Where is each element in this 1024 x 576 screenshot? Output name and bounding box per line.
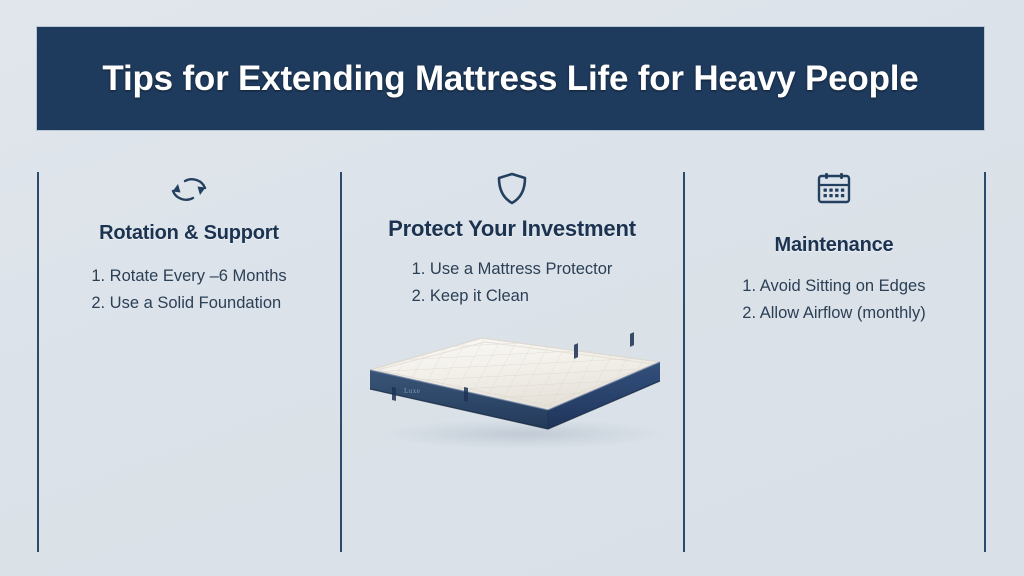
section-protect-investment: Protect Your Investment 1. Use a Mattres… <box>341 168 683 309</box>
column-divider-right <box>984 172 986 552</box>
section-rotation-support: Rotation & Support 1. Rotate Every –6 Mo… <box>38 168 340 316</box>
section-title-maintenance: Maintenance <box>684 234 984 257</box>
tips-list-protect: 1. Use a Mattress Protector 2. Keep it C… <box>412 256 613 309</box>
tips-list-rotation: 1. Rotate Every –6 Months 2. Use a Solid… <box>91 263 286 316</box>
page-title: Tips for Extending Mattress Life for Hea… <box>72 57 948 100</box>
list-item: 1. Avoid Sitting on Edges <box>742 273 925 300</box>
mattress-logo: Luxe <box>404 387 420 395</box>
list-item: 2. Use a Solid Foundation <box>91 290 286 317</box>
header-banner: Tips for Extending Mattress Life for Hea… <box>36 26 985 131</box>
section-title-rotation: Rotation & Support <box>38 222 340 245</box>
shield-icon <box>341 168 683 210</box>
list-item: 1. Use a Mattress Protector <box>412 256 613 283</box>
section-maintenance: Maintenance 1. Avoid Sitting on Edges 2.… <box>684 168 984 326</box>
rotate-arrows-icon <box>38 168 340 210</box>
mattress-product-photo: Luxe <box>352 330 677 455</box>
tips-list-maintenance: 1. Avoid Sitting on Edges 2. Allow Airfl… <box>742 273 925 326</box>
list-item: 2. Allow Airflow (monthly) <box>742 300 925 327</box>
calendar-icon <box>684 168 984 210</box>
list-item: 2. Keep it Clean <box>412 283 613 310</box>
infographic-canvas: Tips for Extending Mattress Life for Hea… <box>0 0 1024 576</box>
section-title-protect: Protect Your Investment <box>341 216 683 242</box>
list-item: 1. Rotate Every –6 Months <box>91 263 286 290</box>
